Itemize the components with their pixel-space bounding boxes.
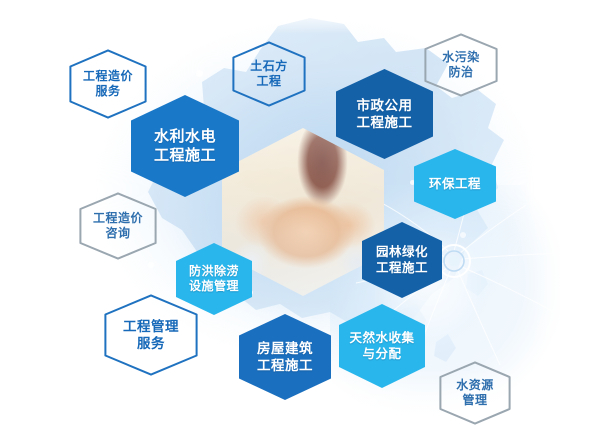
fade-top	[0, 0, 600, 34]
hexagon-shape	[79, 192, 157, 260]
hexagon-water-conservancy-hydropower-construction[interactable]: 水利水电工程施工	[131, 95, 239, 197]
hexagon-building-construction-engineering[interactable]: 房屋建筑工程施工	[239, 314, 331, 400]
fade-left	[0, 0, 80, 439]
poster-canvas: 工程造价服务 土石方工程 水利水电工程施工 市政公用工程施工 水污染防治	[0, 0, 600, 439]
hexagon-environmental-protection-engineering[interactable]: 环保工程	[414, 149, 496, 219]
hexagon-landscaping-engineering-construction[interactable]: 园林绿化工程施工	[362, 222, 442, 298]
hexagon-water-resources-management[interactable]: 水资源管理	[439, 361, 511, 425]
fade-right	[530, 0, 600, 439]
hexagon-shape	[232, 41, 306, 107]
hexagon-shape	[336, 69, 433, 159]
hexagon-shape	[362, 222, 442, 298]
hexagon-earthwork-engineering[interactable]: 土石方工程	[232, 41, 306, 107]
hexagon-natural-water-collection-distribution[interactable]: 天然水收集与分配	[339, 304, 425, 388]
hexagon-municipal-public-works-construction[interactable]: 市政公用工程施工	[336, 69, 433, 159]
hexagon-water-pollution-control[interactable]: 水污染防治	[424, 33, 498, 97]
hexagon-shape	[414, 149, 496, 219]
hexagon-engineering-cost-consulting[interactable]: 工程造价咨询	[79, 192, 157, 260]
hexagon-shape	[131, 95, 239, 197]
hexagon-shape	[104, 294, 198, 376]
hexagon-engineering-management-service[interactable]: 工程管理服务	[104, 294, 198, 376]
hexagon-shape	[439, 361, 511, 425]
hexagon-shape	[424, 33, 498, 97]
hexagon-shape	[339, 304, 425, 388]
hexagon-shape	[239, 314, 331, 400]
